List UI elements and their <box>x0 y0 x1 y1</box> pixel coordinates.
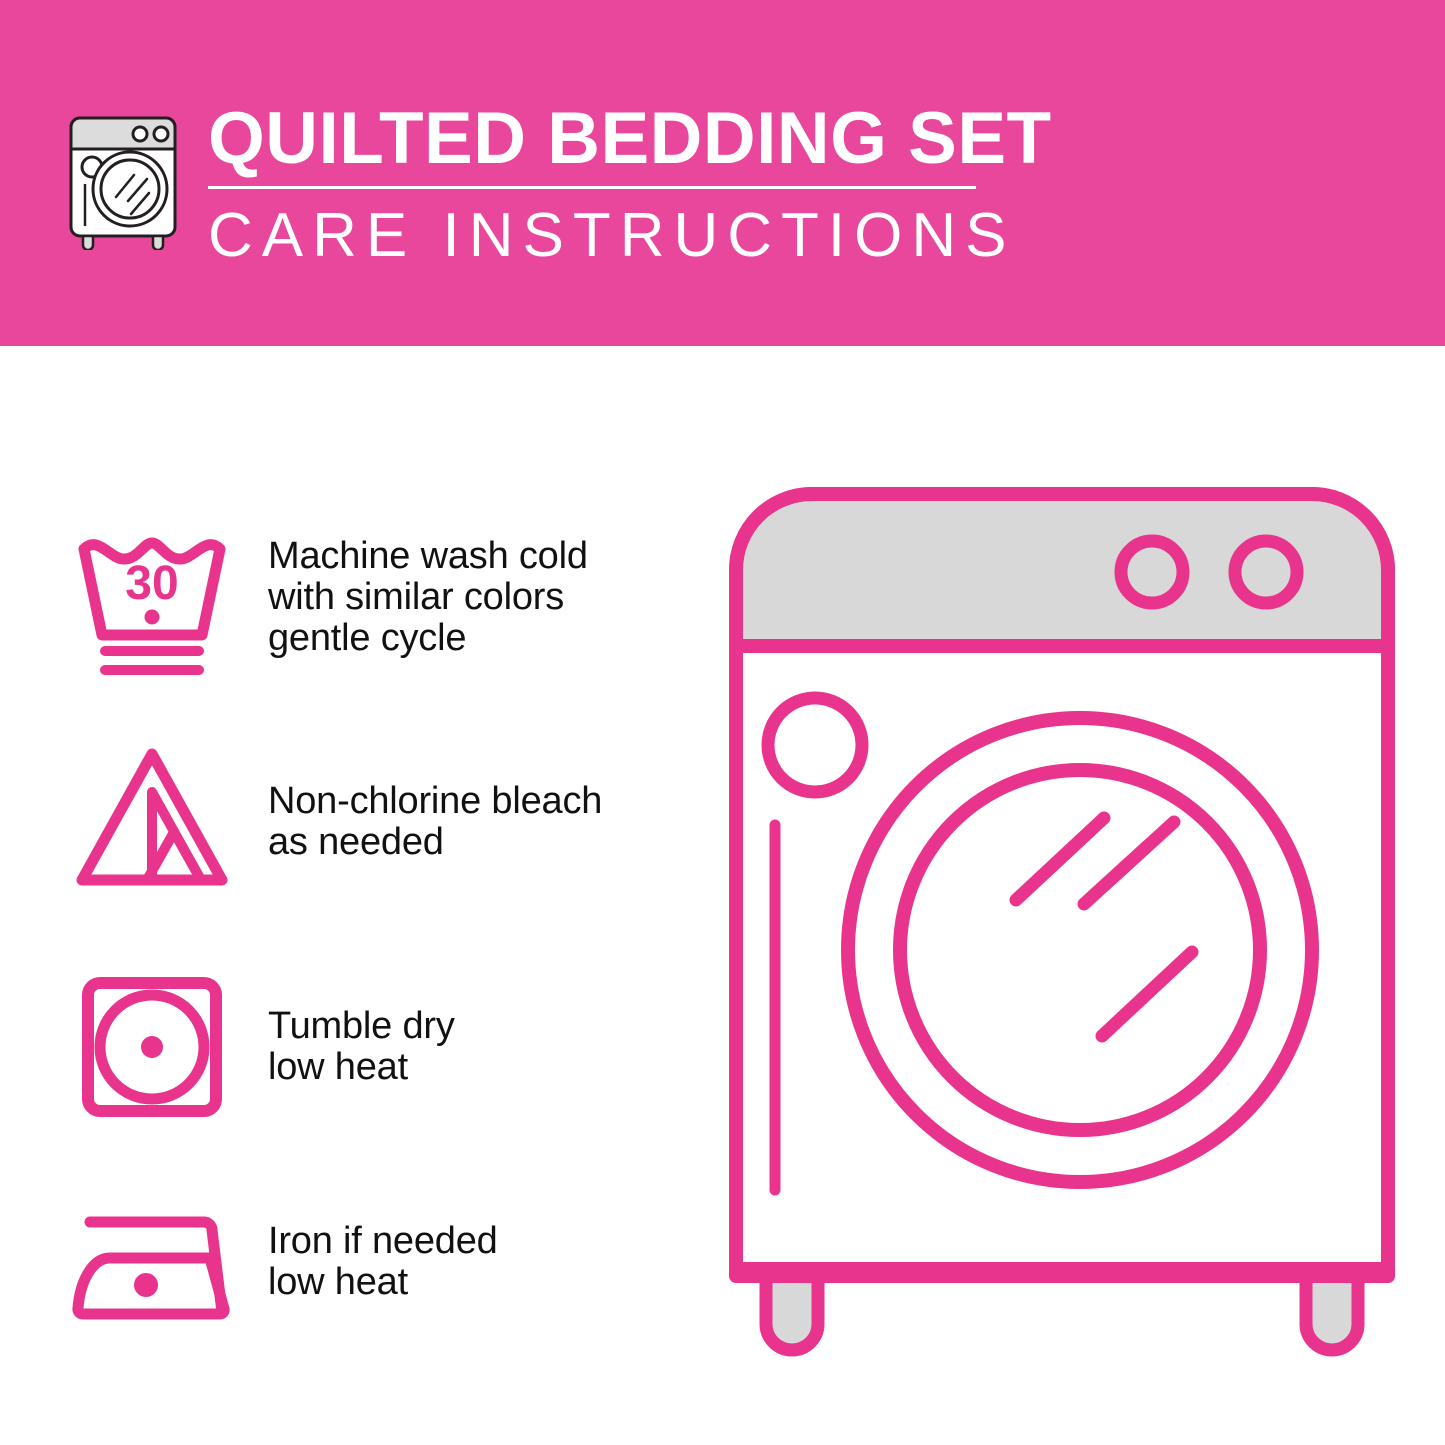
wash-temperature-value: 30 <box>125 557 178 610</box>
care-row-tumble-dry: Tumble dry low heat <box>0 942 700 1152</box>
care-instruction-list: 30 Machine wash cold with similar colors… <box>0 346 700 1445</box>
front-load-washing-machine-illustration <box>722 480 1402 1370</box>
care-instructions-infographic: QUILTED BEDDING SET CARE INSTRUCTIONS 30 <box>0 0 1445 1445</box>
care-row-bleach: Non-chlorine bleach as needed <box>0 717 700 927</box>
header-divider <box>208 186 976 189</box>
header-band: QUILTED BEDDING SET CARE INSTRUCTIONS <box>0 0 1445 346</box>
wash-tub-30-icon: 30 <box>62 507 242 687</box>
care-row-machine-wash: 30 Machine wash cold with similar colors… <box>0 492 700 702</box>
care-label-bleach: Non-chlorine bleach as needed <box>268 781 602 863</box>
care-label-machine-wash: Machine wash cold with similar colors ge… <box>268 536 588 659</box>
header-text-block: QUILTED BEDDING SET CARE INSTRUCTIONS <box>208 100 998 271</box>
tumble-dry-low-icon <box>62 957 242 1137</box>
care-row-iron: Iron if needed low heat <box>0 1157 700 1367</box>
washing-machine-logo-icon <box>62 104 188 250</box>
bleach-triangle-icon <box>62 732 242 912</box>
iron-low-heat-icon <box>62 1172 242 1352</box>
care-label-iron: Iron if needed low heat <box>268 1221 498 1303</box>
page-subtitle: CARE INSTRUCTIONS <box>208 201 998 271</box>
care-label-tumble-dry: Tumble dry low heat <box>268 1006 455 1088</box>
page-title: QUILTED BEDDING SET <box>208 100 998 178</box>
